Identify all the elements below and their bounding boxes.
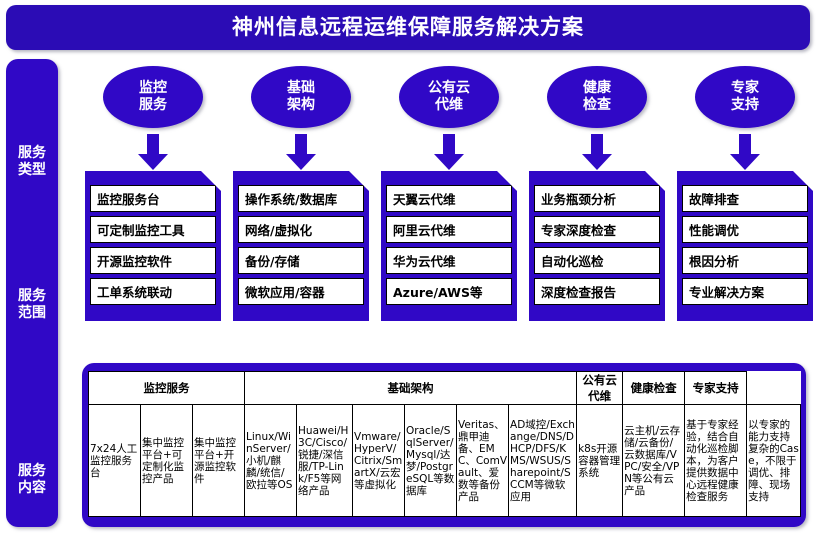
scope-item[interactable]: 监控服务台 [90,185,216,212]
table-cell: 以专家的能力支持复杂的Case，不限于调优、排障、现场支持 [747,405,801,517]
scope-item[interactable]: 性能调优 [682,216,808,243]
sidebar-item-service-scope-line1: 服务 [6,288,58,305]
service-type-ellipse-monitoring[interactable]: 监控 服务 [103,66,203,128]
table-group-header: 公有云代维 [577,372,623,405]
table-cell: 云主机/云存储/云备份/云数据库/VPC/安全/VPN等公有云产品 [623,405,685,517]
scope-item[interactable]: 网络/虚拟化 [238,216,364,243]
scope-item[interactable]: 根因分析 [682,247,808,274]
table-group-header-row: 监控服务 基础架构 公有云代维 健康检查 专家支持 [89,372,801,405]
sidebar-item-service-scope-line2: 范围 [6,305,58,322]
row-label-sidebar: 服务 类型 服务 范围 服务 内容 [6,59,58,527]
table-cell: Vmware/HyperV/Citrix/SmartX/云宏等虚拟化 [353,405,405,517]
down-arrow-icon [582,134,612,170]
service-column-expert-support: 专家 支持 故障排查 性能调优 根因分析 专业解决方案 [677,59,813,321]
table-cell: 基于专家经验，结合自动化巡检脚本，为客户提供数据中心远程健康检查服务 [685,405,747,517]
table-cell: 集中监控平台+可定制化监控产品 [141,405,193,517]
sidebar-item-service-scope: 服务 范围 [6,288,58,322]
service-scope-folder-health-check: 业务瓶颈分析 专家深度检查 自动化巡检 深度检查报告 [529,171,665,321]
down-arrow-icon [434,134,464,170]
table-cell: 集中监控平台+开源监控软件 [193,405,245,517]
table-group-header: 健康检查 [623,372,685,405]
page-title-banner: 神州信息远程运维保障服务解决方案 [6,5,810,50]
scope-item[interactable]: 操作系统/数据库 [238,185,364,212]
down-arrow-icon [730,134,760,170]
service-scope-folder-monitoring: 监控服务台 可定制监控工具 开源监控软件 工单系统联动 [85,171,221,321]
service-content-panel: 监控服务 基础架构 公有云代维 健康检查 专家支持 7x24人工监控服务台 集中… [82,363,806,527]
table-cell: k8s开源容器管理系统 [577,405,623,517]
table-cell: Huawei/H3C/Cisco/锐捷/深信服/TP-Link/F5等网络产品 [297,405,353,517]
sidebar-item-service-type-line2: 类型 [6,162,58,179]
scope-item[interactable]: 工单系统联动 [90,278,216,305]
service-column-infrastructure: 基础 架构 操作系统/数据库 网络/虚拟化 备份/存储 微软应用/容器 [233,59,369,321]
down-arrow-icon [138,134,168,170]
scope-item[interactable]: 华为云代维 [386,247,512,274]
service-type-ellipse-health-check[interactable]: 健康 检查 [547,66,647,128]
table-group-header: 监控服务 [89,372,245,405]
scope-item[interactable]: 天翼云代维 [386,185,512,212]
service-scope-folder-public-cloud: 天翼云代维 阿里云代维 华为云代维 Azure/AWS等 [381,171,517,321]
service-type-ellipse-infrastructure[interactable]: 基础 架构 [251,66,351,128]
service-type-public-cloud-line1: 公有云 [428,80,470,97]
table-cell: Oracle/SqlServer/Mysql/达梦/PostgreSQL等数据库 [405,405,457,517]
scope-item[interactable]: 开源监控软件 [90,247,216,274]
scope-item[interactable]: 专家深度检查 [534,216,660,243]
service-type-health-check-line2: 检查 [583,97,611,114]
service-type-ellipse-expert-support[interactable]: 专家 支持 [695,66,795,128]
service-column-health-check: 健康 检查 业务瓶颈分析 专家深度检查 自动化巡检 深度检查报告 [529,59,665,321]
service-type-expert-support-line2: 支持 [731,97,759,114]
service-type-infrastructure-line1: 基础 [287,80,315,97]
down-arrow-icon [286,134,316,170]
service-type-monitoring-line2: 服务 [139,97,167,114]
scope-item[interactable]: Azure/AWS等 [386,278,512,305]
service-content-table: 监控服务 基础架构 公有云代维 健康检查 专家支持 7x24人工监控服务台 集中… [88,371,801,517]
scope-item[interactable]: 故障排查 [682,185,808,212]
page-title: 神州信息远程运维保障服务解决方案 [232,17,584,38]
service-scope-folder-infrastructure: 操作系统/数据库 网络/虚拟化 备份/存储 微软应用/容器 [233,171,369,321]
sidebar-item-service-content-line2: 内容 [6,480,58,497]
sidebar-item-service-content: 服务 内容 [6,463,58,497]
service-type-expert-support-line1: 专家 [731,80,759,97]
sidebar-item-service-type-line1: 服务 [6,145,58,162]
service-type-health-check-line1: 健康 [583,80,611,97]
table-cell: Linux/WinServer/小机/麒麟/统信/欧拉等OS [245,405,297,517]
service-column-public-cloud: 公有云 代维 天翼云代维 阿里云代维 华为云代维 Azure/AWS等 [381,59,517,321]
table-cell: 7x24人工监控服务台 [89,405,141,517]
table-group-header: 专家支持 [685,372,747,405]
scope-item[interactable]: 阿里云代维 [386,216,512,243]
scope-item[interactable]: 专业解决方案 [682,278,808,305]
scope-item[interactable]: 可定制监控工具 [90,216,216,243]
scope-item[interactable]: 微软应用/容器 [238,278,364,305]
service-type-public-cloud-line2: 代维 [428,97,470,114]
service-scope-folder-expert-support: 故障排查 性能调优 根因分析 专业解决方案 [677,171,813,321]
table-group-header: 基础架构 [245,372,577,405]
service-type-ellipse-public-cloud[interactable]: 公有云 代维 [399,66,499,128]
sidebar-item-service-type: 服务 类型 [6,145,58,179]
service-column-monitoring: 监控 服务 监控服务台 可定制监控工具 开源监控软件 工单系统联动 [85,59,221,321]
scope-item[interactable]: 业务瓶颈分析 [534,185,660,212]
diagram-root: 神州信息远程运维保障服务解决方案 服务 类型 服务 范围 服务 内容 监控 服务 [0,0,816,533]
service-type-infrastructure-line2: 架构 [287,97,315,114]
service-type-monitoring-line1: 监控 [139,80,167,97]
scope-item[interactable]: 备份/存储 [238,247,364,274]
scope-item[interactable]: 自动化巡检 [534,247,660,274]
scope-item[interactable]: 深度检查报告 [534,278,660,305]
table-row: 7x24人工监控服务台 集中监控平台+可定制化监控产品 集中监控平台+开源监控软… [89,405,801,517]
table-cell: Veritas、鼎甲迪备、EMC、ComVault、爱数等备份产品 [457,405,509,517]
table-cell: AD域控/Exchange/DNS/DHCP/DFS/KMS/WSUS/Shar… [509,405,577,517]
sidebar-item-service-content-line1: 服务 [6,463,58,480]
